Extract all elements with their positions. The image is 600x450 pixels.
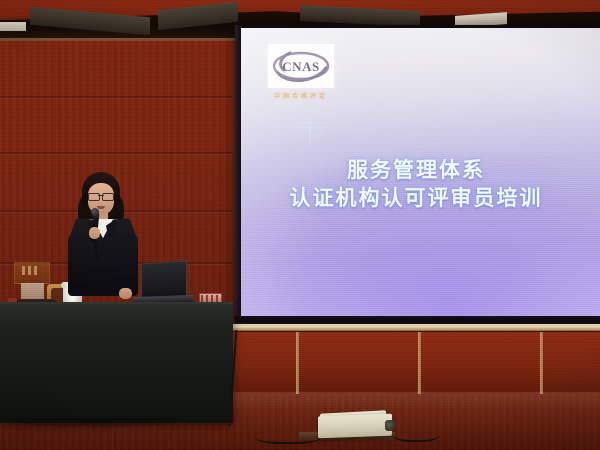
cnas-logo-text: CNAS — [282, 59, 319, 74]
table-shadow — [0, 418, 240, 432]
slide-title: 服务管理体系 认证机构认可评审员培训 — [240, 156, 592, 212]
glasses-lens-right — [102, 193, 114, 201]
ceiling-light — [0, 22, 26, 31]
wall-panel-divider — [540, 332, 543, 394]
presenter-table — [0, 305, 233, 423]
screen-surface: CNAS 中国合格评定 服务管理体系 认证机构认可评审员培训 — [240, 28, 600, 316]
presenter-hand-left — [89, 227, 100, 239]
presenter-arm-left — [68, 232, 88, 294]
presenter-hand-right — [119, 288, 132, 299]
power-cable — [255, 428, 321, 444]
screen-left-edge — [235, 25, 241, 325]
panel-top-rail — [228, 326, 600, 331]
wall-panel-band — [230, 332, 600, 394]
slide-title-line-2: 认证机构认可评审员培训 — [240, 184, 592, 212]
wall-seam — [0, 96, 232, 98]
microphone-head — [91, 208, 99, 216]
glasses-icon — [88, 193, 114, 199]
wall-panel-divider — [296, 332, 299, 394]
power-cable — [392, 424, 440, 442]
photo-scene: CNAS 中国合格评定 服务管理体系 认证机构认可评审员培训 — [0, 0, 600, 450]
cnas-logo: CNAS — [268, 44, 334, 88]
projector — [318, 414, 392, 439]
slide-title-line-1: 服务管理体系 — [240, 156, 592, 184]
wall-panel-divider — [418, 332, 421, 394]
wall-plaque-glyph — [22, 266, 38, 275]
presenter-arm-right — [116, 232, 138, 296]
wall-seam — [0, 152, 232, 154]
presenter — [62, 172, 146, 310]
sparkle-glare — [288, 106, 332, 150]
cnas-logo-subtext: 中国合格评定 — [274, 91, 328, 100]
projection-screen: CNAS 中国合格评定 服务管理体系 认证机构认可评审员培训 — [235, 25, 600, 325]
